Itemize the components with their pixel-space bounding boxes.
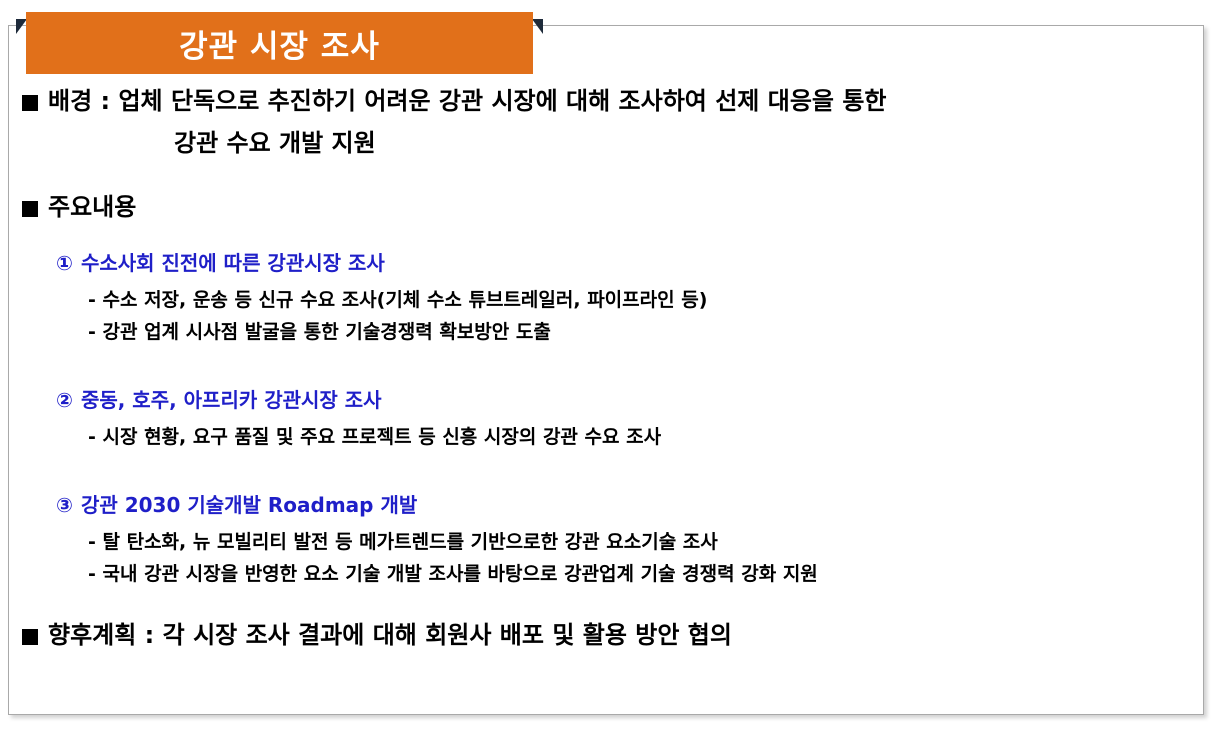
main-item-2-title-row: ② 중동, 호주, 아프리카 강관시장 조사 bbox=[56, 384, 1210, 413]
list-item: ② 중동, 호주, 아프리카 강관시장 조사 - 시장 현황, 요구 품질 및 … bbox=[56, 384, 1210, 449]
title-ribbon-body: 강관 시장 조사 bbox=[26, 12, 533, 74]
circled-number-2-icon: ② bbox=[56, 388, 73, 412]
background-section-line1: 배경 : 업체 단독으로 추진하기 어려운 강관 시장에 대해 조사하여 선제 … bbox=[22, 86, 1210, 118]
main-item-1-detail-1: - 수소 저장, 운송 등 신규 수요 조사(기체 수소 튜브트레일러, 파이프… bbox=[88, 285, 1210, 312]
slide-body: 배경 : 업체 단독으로 추진하기 어려운 강관 시장에 대해 조사하여 선제 … bbox=[22, 86, 1210, 652]
background-text-line2: 강관 수요 개발 지원 bbox=[174, 123, 1210, 158]
black-square-bullet-icon bbox=[22, 95, 38, 111]
spacer bbox=[22, 223, 1210, 247]
main-item-3-detail-1: - 탈 탄소화, 뉴 모빌리티 발전 등 메가트렌드를 기반으로한 강관 요소기… bbox=[88, 527, 1210, 554]
spacer bbox=[22, 449, 1210, 489]
main-item-2-title: 중동, 호주, 아프리카 강관시장 조사 bbox=[81, 384, 382, 413]
ribbon-tail-right-icon bbox=[532, 19, 543, 34]
circled-number-3-icon: ③ bbox=[56, 493, 73, 517]
black-square-bullet-icon bbox=[22, 201, 38, 217]
spacer bbox=[22, 344, 1210, 384]
future-plan-section: 향후계획 : 각 시장 조사 결과에 대해 회원사 배포 및 활용 방안 협의 bbox=[22, 620, 1210, 652]
main-heading-text: 주요내용 bbox=[48, 192, 136, 224]
main-item-3-title-row: ③ 강관 2030 기술개발 Roadmap 개발 bbox=[56, 489, 1210, 518]
list-item: ③ 강관 2030 기술개발 Roadmap 개발 - 탈 탄소화, 뉴 모빌리… bbox=[56, 489, 1210, 586]
main-item-1-title: 수소사회 진전에 따른 강관시장 조사 bbox=[81, 247, 385, 276]
list-item: ① 수소사회 진전에 따른 강관시장 조사 - 수소 저장, 운송 등 신규 수… bbox=[56, 247, 1210, 344]
spacer bbox=[22, 586, 1210, 620]
main-item-1-detail-2: - 강관 업계 시사점 발굴을 통한 기술경쟁력 확보방안 도출 bbox=[88, 317, 1210, 344]
main-item-3-title: 강관 2030 기술개발 Roadmap 개발 bbox=[81, 489, 417, 518]
main-item-1-title-row: ① 수소사회 진전에 따른 강관시장 조사 bbox=[56, 247, 1210, 276]
black-square-bullet-icon bbox=[22, 629, 38, 645]
future-plan-text: 향후계획 : 각 시장 조사 결과에 대해 회원사 배포 및 활용 방안 협의 bbox=[48, 620, 732, 652]
main-item-2-detail-1: - 시장 현황, 요구 품질 및 주요 프로젝트 등 신흥 시장의 강관 수요 … bbox=[88, 422, 1210, 449]
main-section-heading: 주요내용 bbox=[22, 192, 1210, 224]
title-banner: 강관 시장 조사 bbox=[16, 12, 543, 74]
background-text-line1: 배경 : 업체 단독으로 추진하기 어려운 강관 시장에 대해 조사하여 선제 … bbox=[48, 86, 887, 118]
page-title: 강관 시장 조사 bbox=[179, 21, 380, 66]
spacer bbox=[22, 158, 1210, 192]
main-item-3-detail-2: - 국내 강관 시장을 반영한 요소 기술 개발 조사를 바탕으로 강관업계 기… bbox=[88, 559, 1210, 586]
circled-number-1-icon: ① bbox=[56, 251, 73, 275]
slide-canvas: 강관 시장 조사 배경 : 업체 단독으로 추진하기 어려운 강관 시장에 대해… bbox=[0, 0, 1220, 737]
